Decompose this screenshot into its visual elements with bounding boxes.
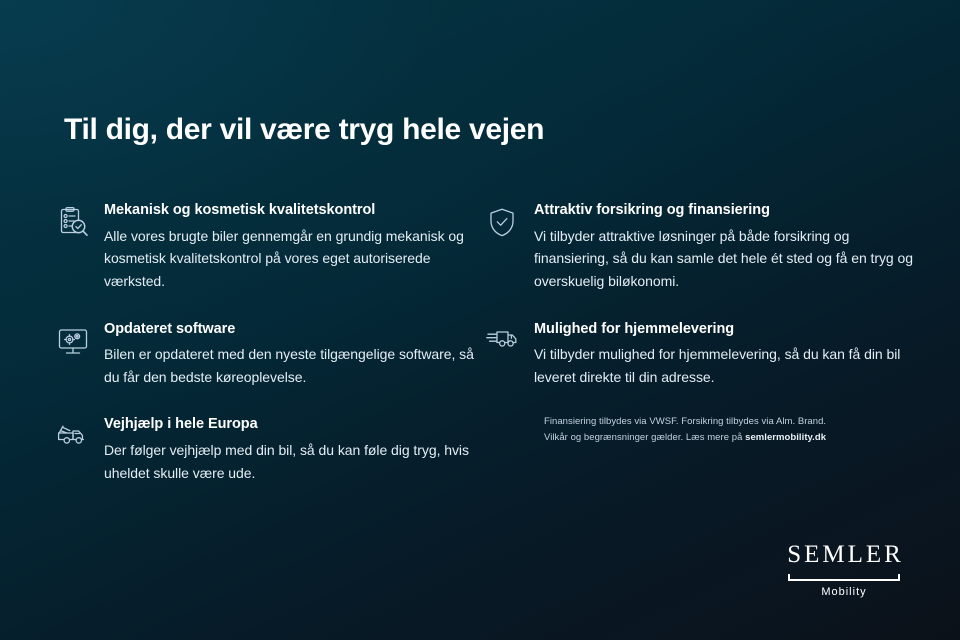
page-title: Til dig, der vil være tryg hele vejen: [64, 113, 544, 147]
feature-title: Mulighed for hjemmelevering: [534, 320, 916, 340]
fineprint-disclaimer: Finansiering tilbydes via VWSF. Forsikri…: [486, 414, 916, 445]
feature-body: Opdateret software Bilen er opdateret me…: [104, 319, 476, 389]
logo-wordmark: SEMLER: [784, 542, 904, 567]
semler-mobility-logo: SEMLER Mobility: [784, 542, 904, 598]
feature-text: Bilen er opdateret med den nyeste tilgæn…: [104, 343, 476, 388]
feature-body: Mulighed for hjemmelevering Vi tilbyder …: [534, 319, 916, 389]
feature-body: Attraktiv forsikring og finansiering Vi …: [534, 200, 916, 293]
feature-title: Attraktiv forsikring og finansiering: [534, 201, 916, 221]
feature-item-quality-control: Mekanisk og kosmetisk kvalitetskontrol A…: [56, 200, 476, 293]
monitor-gears-icon: [56, 319, 104, 363]
feature-text: Der følger vejhjælp med din bil, så du k…: [104, 439, 476, 484]
feature-title: Mekanisk og kosmetisk kvalitetskontrol: [104, 201, 476, 221]
logo-rule-tick-right: [898, 574, 900, 581]
shield-check-icon: [486, 200, 534, 244]
feature-text: Vi tilbyder mulighed for hjemmelevering,…: [534, 343, 916, 388]
logo-divider-rule: [788, 574, 900, 581]
fineprint-line-1: Finansiering tilbydes via VWSF. Forsikri…: [544, 414, 916, 429]
delivery-truck-icon: [486, 319, 534, 363]
feature-body: Mekanisk og kosmetisk kvalitetskontrol A…: [104, 200, 476, 293]
feature-item-roadside-assistance: Vejhjælp i hele Europa Der følger vejhjæ…: [56, 414, 476, 484]
feature-item-updated-software: Opdateret software Bilen er opdateret me…: [56, 319, 476, 389]
feature-text: Vi tilbyder attraktive løsninger på både…: [534, 225, 916, 293]
logo-rule-tick-left: [788, 574, 790, 581]
feature-title: Opdateret software: [104, 320, 476, 340]
feature-item-home-delivery: Mulighed for hjemmelevering Vi tilbyder …: [486, 319, 916, 389]
fineprint-line-2: Vilkår og begrænsninger gælder. Læs mere…: [544, 430, 916, 445]
feature-title: Vejhjælp i hele Europa: [104, 415, 476, 435]
fineprint-website-link[interactable]: semlermobility.dk: [745, 432, 826, 443]
clipboard-magnifier-icon: [56, 200, 104, 244]
slide-canvas: Til dig, der vil være tryg hele vejen: [0, 0, 960, 640]
logo-subtitle: Mobility: [784, 587, 904, 598]
feature-item-insurance-financing: Attraktiv forsikring og finansiering Vi …: [486, 200, 916, 293]
feature-text: Alle vores brugte biler gennemgår en gru…: [104, 225, 476, 293]
feature-body: Vejhjælp i hele Europa Der følger vejhjæ…: [104, 414, 476, 484]
fineprint-line-2-text: Vilkår og begrænsninger gælder. Læs mere…: [544, 432, 745, 443]
features-column-left: Mekanisk og kosmetisk kvalitetskontrol A…: [56, 200, 476, 510]
features-column-right: Attraktiv forsikring og finansiering Vi …: [486, 200, 916, 445]
tow-truck-icon: [56, 414, 104, 458]
